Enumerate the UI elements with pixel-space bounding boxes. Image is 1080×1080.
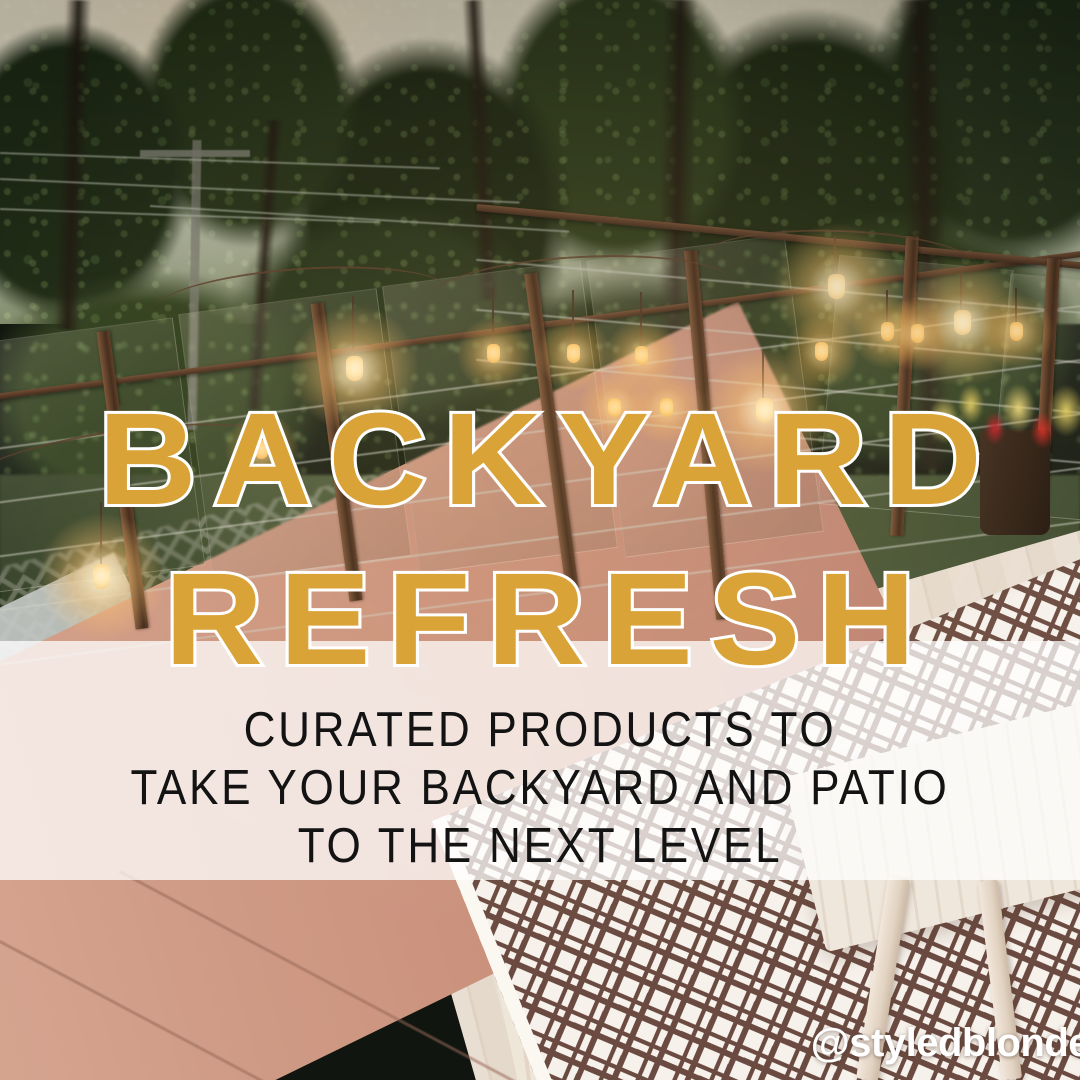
- pin-graphic-canvas: BACKYARD REFRESH CURATED PRODUCTS TO TAK…: [0, 0, 1080, 1080]
- subtitle-line-1: CURATED PRODUCTS TO: [54, 702, 1026, 758]
- subtitle-line-3: TO THE NEXT LEVEL: [54, 818, 1026, 874]
- headline-line-1: BACKYARD: [0, 399, 1080, 520]
- watermark-handle: @styledblonde: [811, 1021, 1080, 1066]
- headline-line-2: REFRESH: [0, 559, 1080, 680]
- text-layer: BACKYARD REFRESH CURATED PRODUCTS TO TAK…: [0, 0, 1080, 1080]
- subtitle-line-2: TAKE YOUR BACKYARD AND PATIO: [54, 760, 1026, 816]
